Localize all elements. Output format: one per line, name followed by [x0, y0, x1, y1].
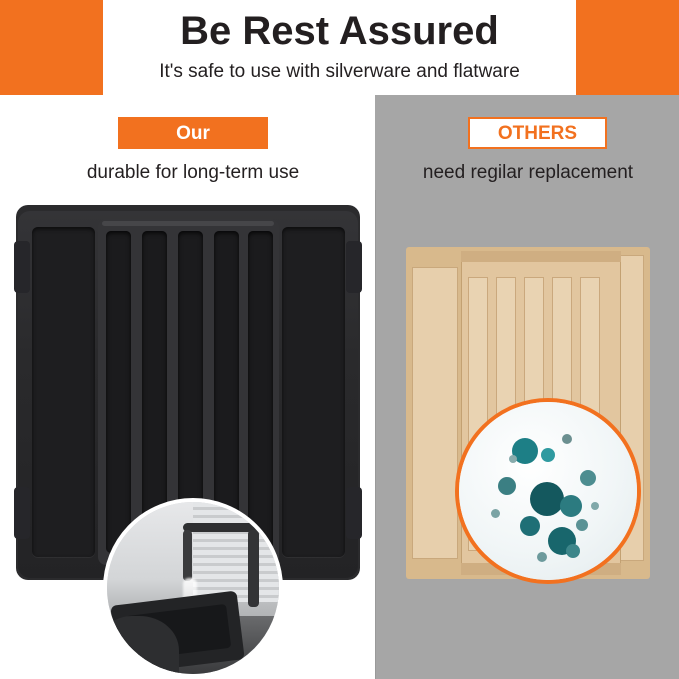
- panel-divider: [375, 190, 376, 679]
- mold-blob-6: [560, 495, 582, 517]
- faucet-spout: [183, 530, 192, 582]
- tray-ear-bl: [14, 487, 30, 539]
- header-accent-left: [0, 0, 103, 95]
- badge-ours: Our: [118, 117, 268, 149]
- faucet-base: [248, 530, 259, 607]
- wood-compartment-left: [412, 267, 458, 559]
- badge-others: OTHERS: [468, 117, 607, 149]
- header-banner: Be Rest Assured It's safe to use with si…: [0, 0, 679, 95]
- mold-blob-4: [498, 477, 516, 495]
- header-accent-right: [576, 0, 679, 95]
- comparison-area: Our durable for long-term use: [0, 95, 679, 679]
- mold-blob-8: [520, 516, 540, 536]
- panel-ours: Our durable for long-term use: [0, 95, 375, 679]
- tray-ear-tr: [346, 241, 362, 293]
- wood-top-rail: [461, 251, 621, 262]
- caption-ours: durable for long-term use: [30, 161, 356, 185]
- tray-ear-br: [346, 487, 362, 539]
- tray-compartment-right: [282, 227, 345, 557]
- promo-image: Be Rest Assured It's safe to use with si…: [0, 0, 679, 679]
- mold-blob-11: [491, 509, 500, 518]
- tray-ear-tl: [14, 241, 30, 293]
- mold-blob-12: [591, 502, 599, 510]
- mold-blob-13: [537, 552, 547, 562]
- caption-others: need regilar replacement: [385, 161, 671, 185]
- faucet-arm: [183, 523, 259, 532]
- panel-others: OTHERS need regilar replacement: [375, 95, 679, 679]
- page-subtitle: It's safe to use with silverware and fla…: [103, 60, 576, 84]
- tray-compartment-left: [32, 227, 95, 557]
- page-title: Be Rest Assured: [103, 8, 576, 55]
- inset-photo-rinsing: [103, 498, 283, 678]
- photo-window-blinds: [193, 502, 279, 602]
- mold-blob-7: [580, 470, 596, 486]
- tray-highlight: [102, 221, 274, 226]
- inset-photo-mold: [455, 398, 641, 584]
